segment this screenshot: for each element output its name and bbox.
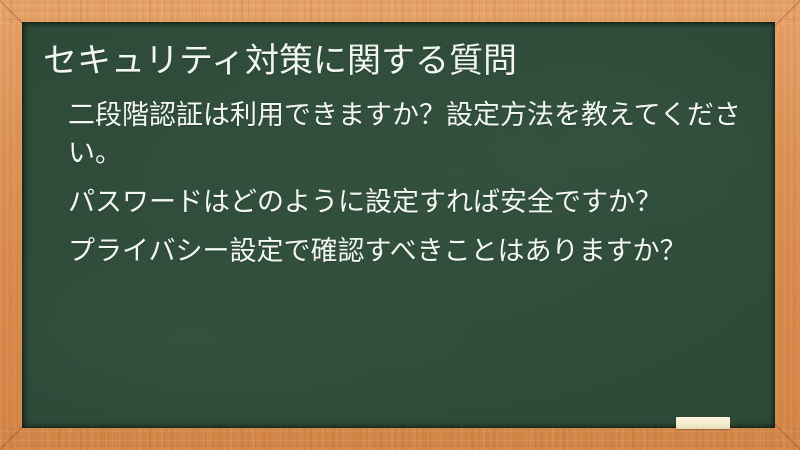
- chalk-stick-icon: [676, 417, 730, 429]
- question-list: 二段階認証は利用できますか？設定方法を教えてください。 パスワードはどのように設…: [32, 97, 751, 271]
- chalkboard-slide: セキュリティ対策に関する質問 二段階認証は利用できますか？設定方法を教えてくださ…: [0, 0, 800, 450]
- list-item: プライバシー設定で確認すべきことはありますか？: [32, 233, 751, 271]
- page-title: セキュリティ対策に関する質問: [43, 39, 751, 83]
- frame-rail-top: [0, 0, 800, 24]
- chalkboard: セキュリティ対策に関する質問 二段階認証は利用できますか？設定方法を教えてくださ…: [22, 22, 775, 428]
- list-item: パスワードはどのように設定すれば安全ですか？: [32, 184, 751, 222]
- slide-content: セキュリティ対策に関する質問 二段階認証は利用できますか？設定方法を教えてくださ…: [22, 22, 775, 428]
- list-item: 二段階認証は利用できますか？設定方法を教えてください。: [32, 97, 751, 173]
- frame-rail-bottom: [0, 428, 800, 450]
